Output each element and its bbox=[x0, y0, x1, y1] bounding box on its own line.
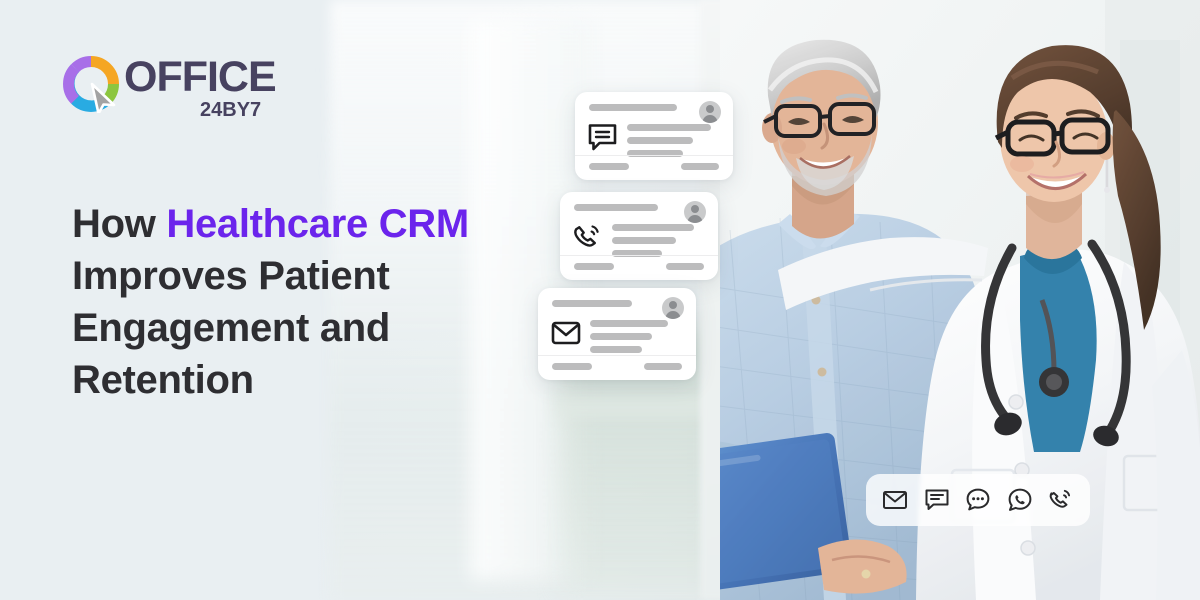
headline-line2: Improves Patient bbox=[72, 254, 390, 298]
card-body bbox=[575, 92, 733, 156]
avatar-body bbox=[688, 215, 703, 223]
page-title: How Healthcare CRM Improves Patient Enga… bbox=[72, 198, 542, 406]
headline-line4: Retention bbox=[72, 358, 254, 402]
chat-message-icon bbox=[587, 122, 619, 152]
headline-line3: Engagement and bbox=[72, 306, 390, 350]
card-body bbox=[560, 192, 718, 256]
card-text-lines bbox=[590, 320, 668, 359]
chat-box-icon[interactable] bbox=[924, 487, 950, 513]
avatar-body bbox=[666, 311, 681, 319]
card-footer-right-action[interactable] bbox=[666, 263, 704, 270]
envelope-icon[interactable] bbox=[882, 487, 908, 513]
email-card[interactable] bbox=[538, 288, 696, 380]
phone-ring-icon bbox=[572, 222, 604, 252]
avatar-head bbox=[669, 301, 677, 309]
avatar bbox=[662, 297, 684, 319]
chat-bubble-dots-icon[interactable] bbox=[965, 487, 991, 513]
headline-accent: Healthcare CRM bbox=[166, 202, 469, 246]
healthcare-crm-banner: OFFICE 24BY7 How Healthcare CRM Improves… bbox=[0, 0, 1200, 600]
communication-channel-bar bbox=[866, 474, 1090, 526]
card-title-placeholder bbox=[552, 300, 632, 307]
card-footer-left-action[interactable] bbox=[574, 263, 614, 270]
card-footer-left-action[interactable] bbox=[552, 363, 592, 370]
card-footer-left-action[interactable] bbox=[589, 163, 629, 170]
q-ring-cursor-icon bbox=[62, 55, 120, 113]
card-body bbox=[538, 288, 696, 356]
envelope-icon bbox=[550, 318, 582, 348]
avatar-head bbox=[691, 205, 699, 213]
call-card[interactable] bbox=[560, 192, 718, 280]
card-line bbox=[590, 320, 668, 327]
avatar bbox=[699, 101, 721, 123]
card-footer-right-action[interactable] bbox=[681, 163, 719, 170]
card-line bbox=[627, 124, 711, 131]
card-line bbox=[590, 346, 642, 353]
chat-message-card[interactable] bbox=[575, 92, 733, 180]
card-line bbox=[612, 237, 676, 244]
logo-wordmark: OFFICE bbox=[124, 56, 276, 99]
card-title-placeholder bbox=[589, 104, 677, 111]
card-footer-right-action[interactable] bbox=[644, 363, 682, 370]
phone-ring-icon[interactable] bbox=[1048, 487, 1074, 513]
logo-submark: 24BY7 bbox=[200, 100, 261, 120]
card-footer bbox=[575, 156, 733, 180]
avatar bbox=[684, 201, 706, 223]
card-footer bbox=[538, 356, 696, 380]
avatar-body bbox=[703, 115, 718, 123]
card-footer bbox=[560, 256, 718, 280]
avatar-head bbox=[706, 105, 714, 113]
office24by7-logo[interactable]: OFFICE 24BY7 bbox=[62, 50, 282, 118]
headline-line1-prefix: How bbox=[72, 202, 166, 246]
card-line bbox=[590, 333, 652, 340]
card-line bbox=[612, 224, 694, 231]
whatsapp-icon[interactable] bbox=[1007, 487, 1033, 513]
card-line bbox=[627, 137, 693, 144]
card-title-placeholder bbox=[574, 204, 658, 211]
